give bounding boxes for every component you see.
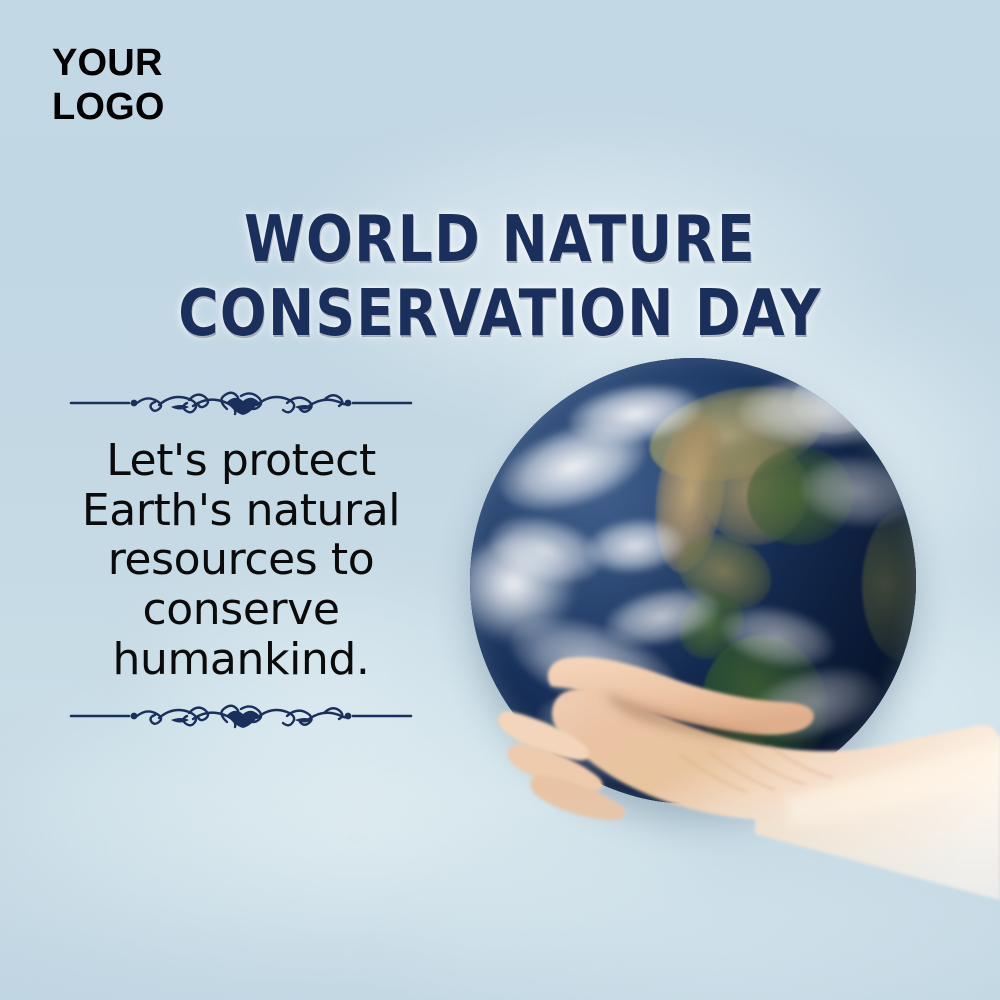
globe-in-hand-image — [455, 340, 1000, 1000]
poster-canvas: YOUR LOGO WORLD NATURE CONSERVATION DAY — [0, 0, 1000, 1000]
tagline-text: Let's protect Earth's natural resources … — [74, 436, 408, 685]
tagline-panel: Let's protect Earth's natural resources … — [62, 386, 420, 733]
page-title-line-1: WORLD NATURE — [70, 208, 930, 272]
page-title: WORLD NATURE CONSERVATION DAY — [0, 208, 1000, 346]
brand-logo-text[interactable]: YOUR LOGO — [52, 41, 165, 130]
globe-rim-light — [470, 358, 916, 804]
page-title-line-2: CONSERVATION DAY — [70, 282, 930, 346]
ornament-divider-top — [67, 386, 415, 420]
earth-globe-icon — [470, 358, 916, 804]
ornament-divider-bottom — [67, 699, 415, 733]
